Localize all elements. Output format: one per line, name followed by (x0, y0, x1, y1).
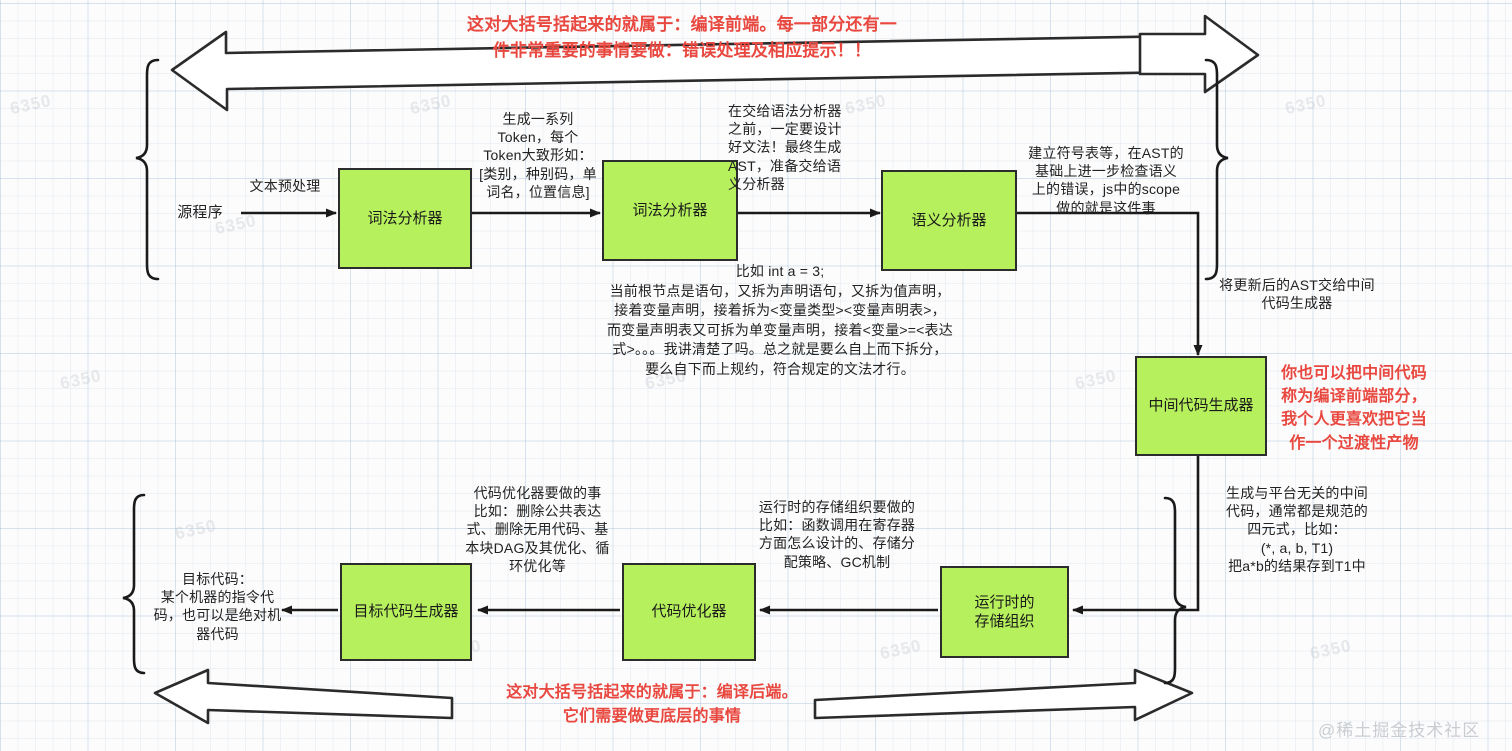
label-optimizer-detail: 代码优化器要做的事 比如：删除公共表达 式、删除无用代码、基 本块DAG及其优化… (455, 484, 620, 575)
node-lexer-1[interactable]: 词法分析器 (338, 168, 472, 269)
label-text-preprocess: 文本预处理 (229, 177, 341, 195)
node-label: 语义分析器 (911, 211, 986, 231)
node-label: 中间代码生成器 (1148, 396, 1253, 416)
back-end-outline-arrow-right (815, 670, 1192, 720)
label-runtime-detail: 运行时的存储组织要做的 比如：函数调用在寄存器 方面怎么设计的、存储分 配策略、… (742, 498, 932, 571)
brace-front-end-left (136, 60, 158, 279)
label-ir-quadruple: 生成与平台无关的中间 代码，通常都是规范的 四元式，比如： (*, a, b, … (1202, 484, 1392, 575)
node-code-optimizer[interactable]: 代码优化器 (622, 563, 756, 661)
node-lexer-2[interactable]: 词法分析器 (602, 160, 738, 261)
label-source-program: 源程序 (158, 203, 242, 223)
node-runtime-storage-organization[interactable]: 运行时的 存储组织 (940, 566, 1069, 658)
node-label: 目标代码生成器 (353, 602, 458, 622)
node-label: 代码优化器 (651, 602, 726, 622)
label-grammar-note: 在交给语法分析器 之前，一定要设计 好文法！最终生成 AST，准备交给语 义分析… (728, 102, 878, 193)
front-end-outline-arrow-right-head (1140, 16, 1258, 92)
node-label: 词法分析器 (367, 209, 442, 229)
site-watermark: @稀土掘金技术社区 (1318, 716, 1480, 741)
front-end-banner: 这对大括号括起来的就属于：编译前端。每一部分还有一 件非常重要的事情要做：错误处… (408, 12, 956, 65)
label-token-stream: 生成一系列 Token，每个 Token大致形如： [类别，种别码，单 词名，位… (462, 110, 614, 201)
node-target-code-generator[interactable]: 目标代码生成器 (340, 563, 472, 661)
back-end-outline-arrow-left (155, 670, 452, 723)
label-symbol-table: 建立符号表等，在AST的 基础上进一步检查语义 上的错误，js中的scope 做… (1008, 144, 1204, 217)
node-semantic-analyzer[interactable]: 语义分析器 (881, 170, 1017, 271)
label-ast-to-ir: 将更新后的AST交给中间 代码生成器 (1204, 276, 1390, 312)
node-intermediate-code-generator[interactable]: 中间代码生成器 (1135, 356, 1267, 456)
label-ast-detail: 比如 int a = 3; 当前根节点是语句，又拆为声明语句，又拆为值声明， 接… (560, 262, 1000, 380)
node-label: 词法分析器 (632, 201, 707, 221)
brace-front-end-right (1206, 60, 1228, 279)
node-label: 运行时的 存储组织 (974, 593, 1034, 632)
label-target-code: 目标代码： 某个机器的指令代 码，也可以是绝对机 器代码 (140, 570, 295, 643)
intermediate-code-note: 你也可以把中间代码 称为编译前端部分， 我个人更喜欢把它当 作一个过渡性产物 (1264, 362, 1444, 455)
brace-back-end-right (1165, 498, 1186, 683)
back-end-banner: 这对大括号括起来的就属于：编译后端。 它们需要做更底层的事情 (452, 681, 852, 729)
